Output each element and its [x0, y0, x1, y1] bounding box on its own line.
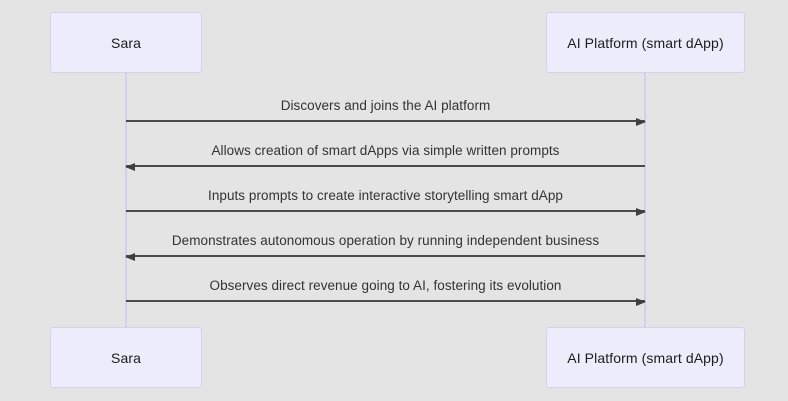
participant-box-sara-bottom[interactable]: Sara [50, 327, 202, 388]
message-arrow-1[interactable]: Discovers and joins the AI platform [126, 100, 645, 122]
participant-label-sara-bottom: Sara [111, 350, 141, 366]
message-arrow-4[interactable]: Demonstrates autonomous operation by run… [126, 235, 645, 257]
message-line-3 [126, 210, 645, 212]
arrowhead-right-icon-5 [636, 298, 646, 306]
message-label-4: Demonstrates autonomous operation by run… [126, 233, 645, 248]
arrowhead-right-icon-1 [636, 118, 646, 126]
message-arrow-3[interactable]: Inputs prompts to create interactive sto… [126, 190, 645, 212]
participant-label-ai-platform-bottom: AI Platform (smart dApp) [567, 350, 723, 366]
message-arrow-2[interactable]: Allows creation of smart dApps via simpl… [126, 145, 645, 167]
participant-box-ai-platform-bottom[interactable]: AI Platform (smart dApp) [546, 327, 745, 388]
message-label-1: Discovers and joins the AI platform [126, 98, 645, 113]
participant-box-ai-platform-top[interactable]: AI Platform (smart dApp) [546, 12, 745, 73]
message-line-1 [126, 120, 645, 122]
sequence-diagram: Sara AI Platform (smart dApp) Discovers … [0, 0, 788, 401]
message-arrow-5[interactable]: Observes direct revenue going to AI, fos… [126, 280, 645, 302]
message-line-5 [126, 300, 645, 302]
message-label-5: Observes direct revenue going to AI, fos… [126, 278, 645, 293]
arrowhead-left-icon-4 [125, 253, 135, 261]
message-line-4 [126, 255, 645, 257]
message-label-3: Inputs prompts to create interactive sto… [126, 188, 645, 203]
arrowhead-right-icon-3 [636, 208, 646, 216]
participant-label-sara-top: Sara [111, 35, 141, 51]
participant-box-sara-top[interactable]: Sara [50, 12, 202, 73]
message-label-2: Allows creation of smart dApps via simpl… [126, 143, 645, 158]
arrowhead-left-icon-2 [125, 163, 135, 171]
message-line-2 [126, 165, 645, 167]
participant-label-ai-platform-top: AI Platform (smart dApp) [567, 35, 723, 51]
